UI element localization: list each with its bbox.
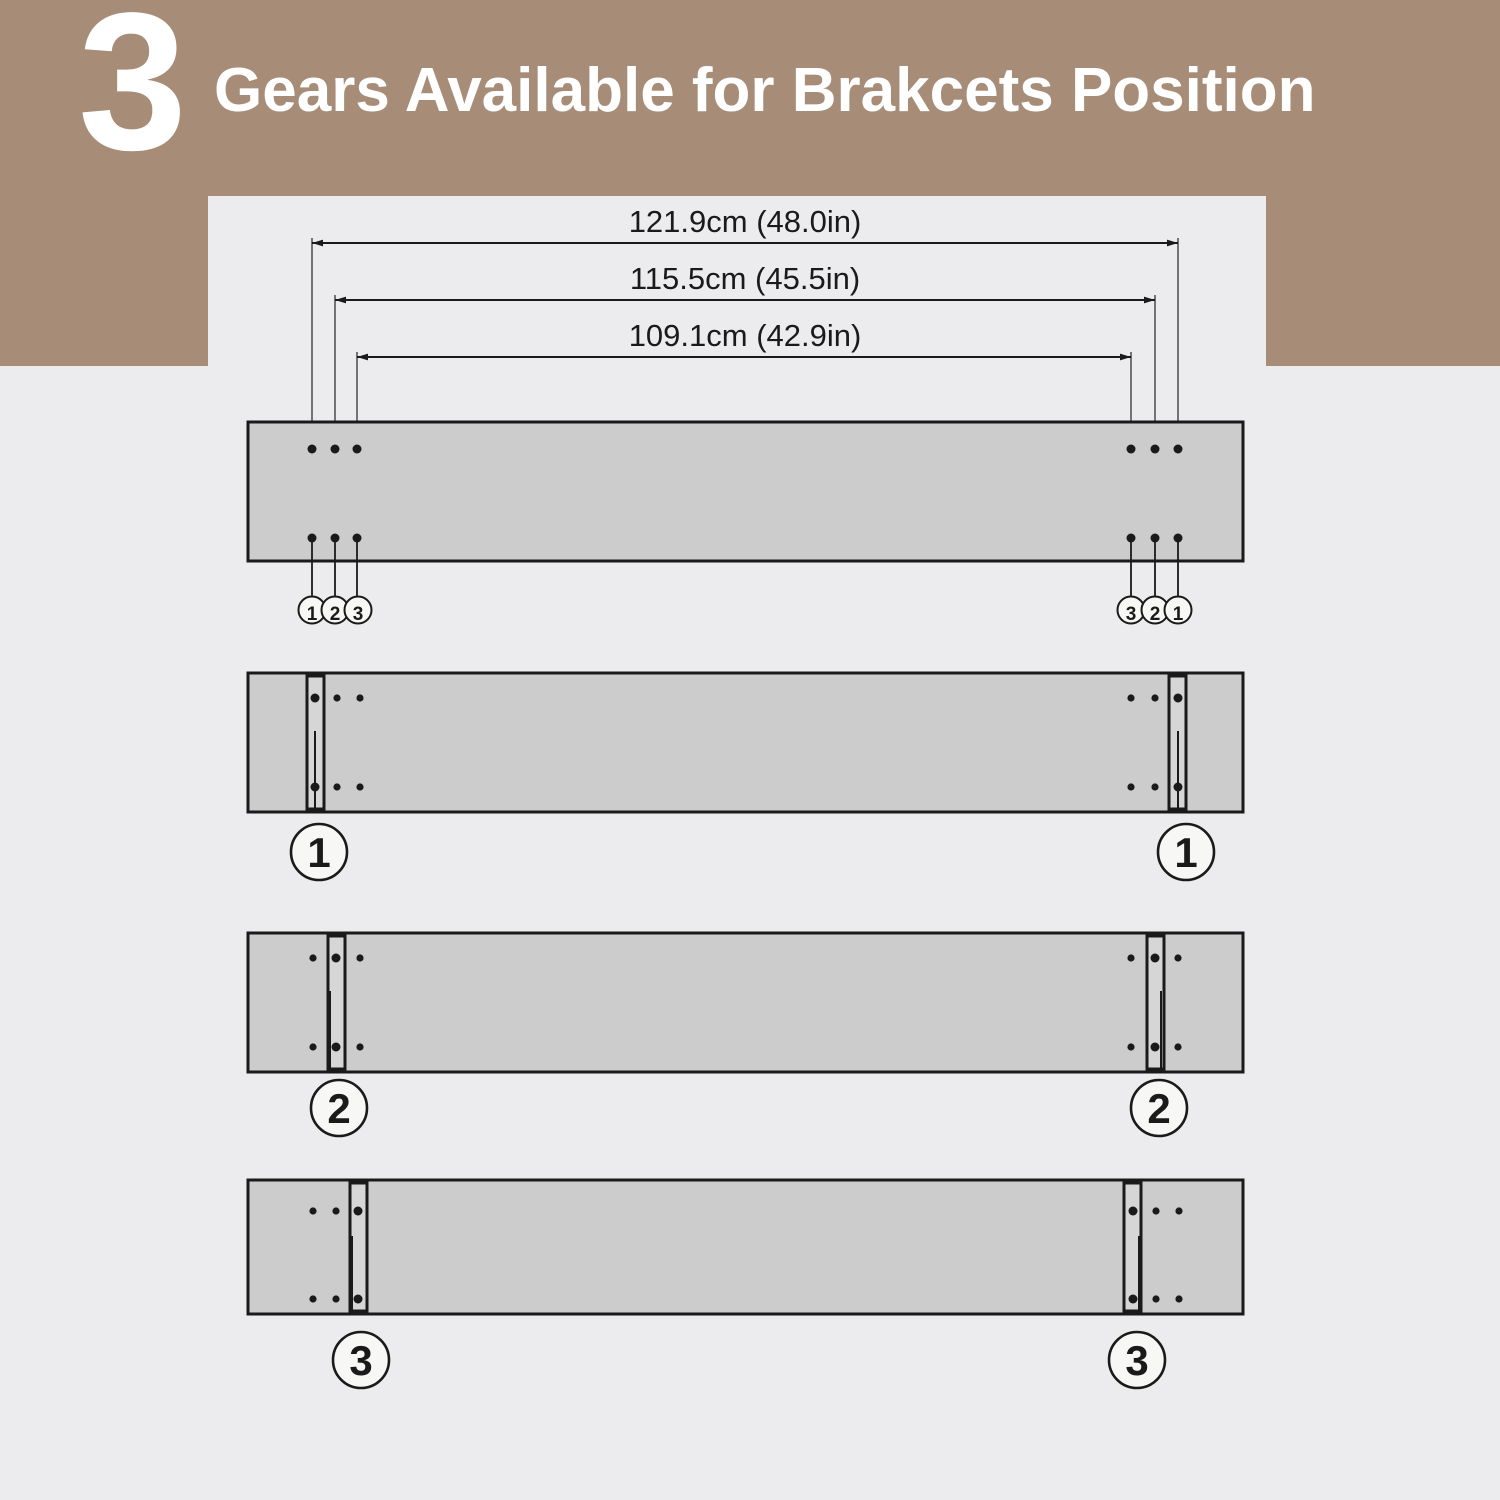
- technical-drawing: 121.9cm (48.0in) 115.5cm (45.5in) 109.1c…: [0, 0, 1500, 1500]
- caption-label: 1: [1174, 829, 1197, 876]
- bracket-bolt-hole: [1129, 1295, 1138, 1304]
- callout-label: 2: [1150, 604, 1161, 625]
- dimension-label-1: 121.9cm (48.0in): [629, 204, 862, 239]
- caption-label: 3: [1125, 1337, 1148, 1384]
- bracket-bolt-hole: [1174, 783, 1183, 792]
- board-gear-2-caption-right: 2: [1131, 1080, 1187, 1136]
- caption-label: 2: [327, 1085, 350, 1132]
- board-body: [248, 933, 1243, 1072]
- bracket-bolt-hole: [311, 783, 320, 792]
- bracket-left: [307, 676, 324, 809]
- board-body: [248, 422, 1243, 561]
- dimension-label-2: 115.5cm (45.5in): [630, 261, 860, 296]
- board-gear-1: [248, 673, 1243, 812]
- callout-label: 1: [1173, 604, 1184, 625]
- bracket-right: [1169, 676, 1186, 809]
- caption-label: 1: [307, 829, 330, 876]
- bracket-bolt-hole: [332, 1043, 341, 1052]
- bracket-bolt-hole: [354, 1207, 363, 1216]
- bracket-left: [350, 1183, 367, 1311]
- poster-root: 3 Gears Available for Brakcets Position: [0, 0, 1500, 1500]
- dimension-label-3: 109.1cm (42.9in): [629, 318, 862, 353]
- callout-right-3: 1: [1165, 597, 1192, 626]
- bracket-right: [1124, 1183, 1141, 1311]
- callout-right-1: 3: [1118, 597, 1145, 626]
- bracket-right: [1147, 936, 1164, 1069]
- board-gear-3: [248, 1180, 1243, 1314]
- board-gear-3-caption-right: 3: [1109, 1332, 1165, 1388]
- callout-label: 3: [1126, 604, 1137, 625]
- caption-label: 3: [349, 1337, 372, 1384]
- board-body: [248, 1180, 1243, 1314]
- callout-label: 2: [330, 604, 341, 625]
- bracket-bolt-hole: [1151, 1043, 1160, 1052]
- bracket-bolt-hole: [311, 694, 320, 703]
- caption-label: 2: [1147, 1085, 1170, 1132]
- board-gear-3-caption-left: 3: [333, 1332, 389, 1388]
- bracket-bolt-hole: [354, 1295, 363, 1304]
- board-gear-1-caption-left: 1: [291, 824, 347, 880]
- callout-label: 1: [307, 604, 318, 625]
- callout-label: 3: [353, 604, 364, 625]
- board-gear-2-caption-left: 2: [311, 1080, 367, 1136]
- bracket-bolt-hole: [1129, 1207, 1138, 1216]
- board-gear-1-caption-right: 1: [1158, 824, 1214, 880]
- board-gear-2: [248, 933, 1243, 1072]
- board-overview: [248, 422, 1243, 596]
- diagram-area: 121.9cm (48.0in) 115.5cm (45.5in) 109.1c…: [0, 0, 1500, 1500]
- board-body: [248, 673, 1243, 812]
- bracket-left: [328, 936, 345, 1069]
- bracket-bolt-hole: [1151, 954, 1160, 963]
- bracket-bolt-hole: [332, 954, 341, 963]
- bracket-bolt-hole: [1174, 694, 1183, 703]
- callout-left-3: 3: [345, 597, 372, 626]
